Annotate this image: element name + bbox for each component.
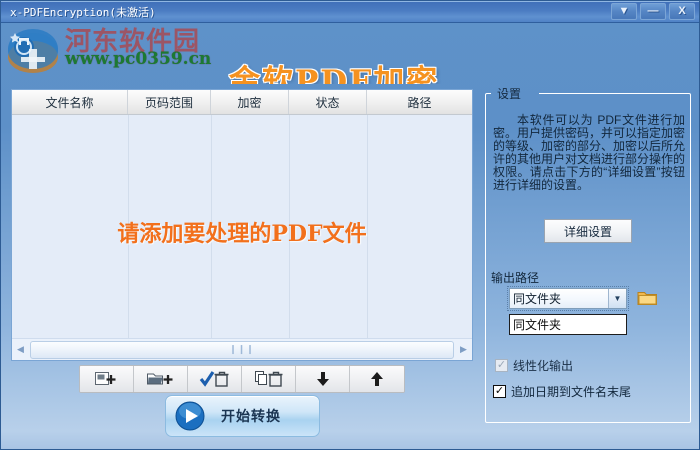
rollup-button[interactable]: ▼: [611, 3, 637, 20]
arrow-up-icon: [369, 370, 385, 388]
move-down-button[interactable]: [296, 366, 350, 392]
clear-all-button[interactable]: [242, 366, 296, 392]
empty-list-message: 请添加要处理的PDF文件: [12, 216, 472, 248]
application-window: x-PDFEncryption(未激活) ▼ — X 金软PDF加密 河东软件园…: [0, 0, 700, 450]
column-header-encrypt[interactable]: 加密: [211, 90, 289, 114]
titlebar-highlight: [1, 1, 700, 2]
checkbox-row-append-date[interactable]: ✓ 追加日期到文件名末尾: [493, 383, 631, 400]
title-bar: x-PDFEncryption(未激活) ▼ — X: [1, 1, 700, 23]
scroll-right-arrow-icon[interactable]: ▶: [455, 340, 472, 360]
file-list-panel: 文件名称 页码范围 加密 状态 路径 请添加要处理的PDF文件 ◀ ❙❙❙ ▶: [11, 89, 473, 361]
folder-icon: [637, 289, 658, 306]
column-header-pagerange[interactable]: 页码范围: [128, 90, 211, 114]
checkbox-linearized-output[interactable]: ✓: [495, 359, 508, 372]
window-title: x-PDFEncryption(未激活): [10, 4, 156, 20]
watermark: 河东软件园 www.pc0359.cn: [3, 21, 213, 83]
arrow-down-icon: [315, 370, 331, 388]
column-header-status[interactable]: 状态: [289, 90, 367, 114]
add-folder-button[interactable]: [134, 366, 188, 392]
checkbox-append-date[interactable]: ✓: [493, 385, 506, 398]
minimize-button[interactable]: —: [640, 3, 666, 20]
scrollbar-grip-icon: ❙❙❙: [229, 344, 255, 355]
checkbox-label-linearized-output: 线性化输出: [513, 357, 573, 374]
close-button[interactable]: X: [669, 3, 695, 20]
scroll-left-arrow-icon[interactable]: ◀: [12, 340, 29, 360]
file-list-body[interactable]: 请添加要处理的PDF文件: [12, 115, 472, 339]
browse-folder-button[interactable]: [635, 287, 659, 308]
settings-group-legend: 设置: [493, 85, 525, 102]
check-trash-icon: [199, 370, 231, 388]
column-header-filename[interactable]: 文件名称: [12, 90, 128, 114]
move-up-button[interactable]: [350, 366, 404, 392]
output-mode-dropdown[interactable]: 同文件夹 ▼: [509, 288, 627, 309]
output-mode-value: 同文件夹: [510, 290, 608, 307]
site-logo-icon: [7, 27, 59, 77]
add-file-icon: [94, 370, 120, 388]
delete-selected-button[interactable]: [188, 366, 242, 392]
add-folder-icon: [146, 370, 176, 388]
checkbox-label-append-date: 追加日期到文件名末尾: [511, 383, 631, 400]
output-path-input[interactable]: 同文件夹: [509, 314, 627, 335]
start-convert-label: 开始转换: [221, 406, 281, 426]
scrollbar-thumb[interactable]: ❙❙❙: [30, 341, 454, 359]
watermark-url: www.pc0359.cn: [65, 49, 211, 69]
checkbox-row-linearized-output[interactable]: ✓ 线性化输出: [495, 357, 573, 374]
file-toolbar: [79, 365, 405, 393]
output-path-label: 输出路径: [491, 269, 539, 286]
column-header-path[interactable]: 路径: [367, 90, 472, 114]
pages-trash-icon: [253, 370, 285, 388]
play-icon: [175, 401, 205, 431]
detail-settings-button[interactable]: 详细设置: [544, 219, 632, 243]
file-list-header: 文件名称 页码范围 加密 状态 路径: [12, 90, 472, 115]
chevron-down-icon[interactable]: ▼: [608, 289, 626, 308]
scrollbar-track[interactable]: ❙❙❙: [30, 341, 454, 359]
start-convert-button[interactable]: 开始转换: [165, 395, 320, 437]
add-file-button[interactable]: [80, 366, 134, 392]
horizontal-scrollbar[interactable]: ◀ ❙❙❙ ▶: [12, 338, 472, 360]
settings-description: 本软件可以为 PDF文件进行加密。用户提供密码，并可以指定加密的等级、加密的部分…: [493, 114, 685, 192]
app-banner-title: 金软PDF加密: [229, 56, 439, 84]
